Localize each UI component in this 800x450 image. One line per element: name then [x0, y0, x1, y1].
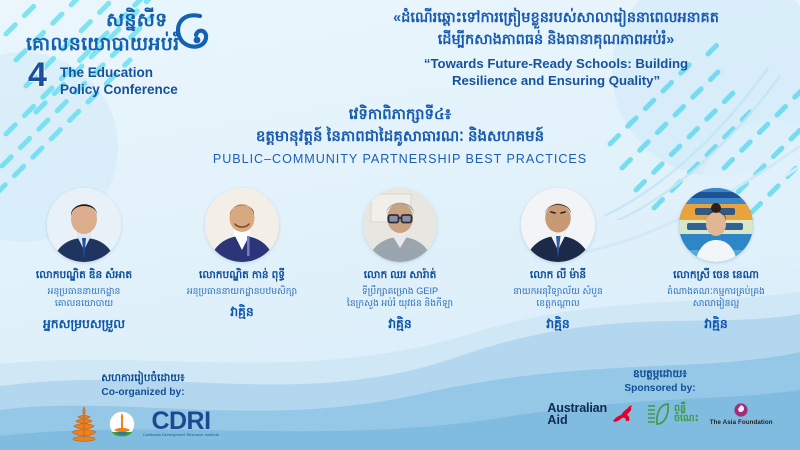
sponsor-block: ឧបត្ថម្ភដោយ៖ Sponsored by: Australian Ai…: [540, 368, 780, 427]
main-title-english: “Towards Future-Ready Schools: Building …: [330, 55, 782, 90]
speaker-tag: អ្នកសម្របសម្រួល: [8, 317, 160, 335]
speaker-role-line2: ខេត្តកណ្តាល: [482, 297, 634, 309]
speaker-role-line2: សាលារៀនល្អ: [640, 297, 792, 309]
khmer-numeral-swirl-icon: [170, 10, 210, 60]
logo-english-name: The Education Policy Conference: [60, 64, 178, 99]
speaker-photo-1: [47, 188, 121, 262]
logo-khmer-line2: គោលនយោបាយអប់រំ: [26, 32, 179, 60]
speaker-name: លោកស្រី ចេន នេណា: [640, 269, 792, 283]
speaker-tag: វាគ្មិន: [640, 317, 792, 335]
session-title: វេទិកាពិភាក្សាទី៤៖ ឧត្តមានុវត្តន៍ នៃភាពជ…: [0, 104, 800, 166]
the-asia-foundation-logo: The Asia Foundation: [710, 403, 773, 426]
ponleu-chomneh-line2: ចំណេះ: [674, 414, 699, 424]
speaker-name: លោកបណ្ឌិត ឌិន សំអាត: [8, 269, 160, 283]
speaker-tag: វាគ្មិន: [482, 317, 634, 335]
coorganized-english-label: Co-organized by:: [28, 387, 258, 398]
sponsored-khmer-label: ឧបត្ថម្ភដោយ៖: [540, 368, 780, 382]
moeys-emblem: [67, 406, 101, 442]
footer: សហការរៀបចំដោយ៖ Co-organized by:: [0, 354, 800, 450]
conference-logo: សន្និសីទ គោលនយោបាយអប់រំ 4 The Education …: [20, 6, 230, 102]
australian-aid-line2: Aid: [547, 414, 607, 427]
logo-english-line1: The Education: [60, 64, 178, 81]
asia-foundation-label: The Asia Foundation: [710, 419, 773, 426]
speaker-photo-3: [363, 188, 437, 262]
speaker-tag: វាគ្មិន: [324, 317, 476, 335]
speaker-name: លោក លី ម៉ានី: [482, 269, 634, 283]
speaker-card[interactable]: លោកស្រី ចេន នេណា តំណាងគណៈកម្មការគ្រប់គ្រ…: [640, 188, 792, 335]
speaker-photo-4: [521, 188, 595, 262]
coorganized-khmer-label: សហការរៀបចំដោយ៖: [28, 372, 258, 386]
speaker-role-line2: នៃក្រសួង អប់រំ យុវជន និងកីឡា: [324, 297, 476, 309]
speaker-card[interactable]: លោកបណ្ឌិត ឌិន សំអាត អនុប្រធាននាយកដ្ឋាន គ…: [8, 188, 160, 335]
australian-aid-logo: Australian Aid: [547, 402, 634, 428]
coorganizer-block: សហការរៀបចំដោយ៖ Co-organized by:: [28, 372, 258, 442]
main-title: «ដំណើរឆ្ពោះទៅការត្រៀមខ្លួនរបស់សាលារៀននាព…: [330, 8, 782, 90]
session-english: PUBLIC–COMMUNITY PARTNERSHIP BEST PRACTI…: [0, 152, 800, 166]
conference-slide: សន្និសីទ គោលនយោបាយអប់រំ 4 The Education …: [0, 0, 800, 450]
ponleu-chomneh-logo: ពន្លឺ ចំណេះ: [645, 402, 699, 426]
speaker-role-line1: តំណាងគណៈកម្មការគ្រប់គ្រង: [640, 285, 792, 297]
speaker-card[interactable]: លោកបណ្ឌិត កាន់ ពុទ្ធី អនុប្រធាននាយកដ្ឋាន…: [166, 188, 318, 323]
cdri-label: CDRI: [143, 410, 219, 433]
main-title-khmer-line1: «ដំណើរឆ្ពោះទៅការត្រៀមខ្លួនរបស់សាលារៀននាព…: [330, 8, 782, 30]
logo-english-line2: Policy Conference: [60, 81, 178, 98]
session-khmer-line2: ឧត្តមានុវត្តន៍ នៃភាពជាដៃគូសាធារណៈ និងសហគ…: [0, 126, 800, 148]
speaker-card[interactable]: លោក លី ម៉ានី នាយកអនុវិទ្យាល័យ សំបួន ខេត្…: [482, 188, 634, 335]
main-title-khmer-line2: ដើម្បីកសាងភាពធន់ និងធានាគុណភាពអប់រំ»: [330, 30, 782, 52]
main-title-english-line1: “Towards Future-Ready Schools: Building: [330, 55, 782, 73]
cdri-sublabel: Cambodia Development Resource Institute: [143, 433, 219, 437]
speaker-card[interactable]: លោក ឈរ សារ៉ាត់ ទីប្រឹក្សាគម្រោង GEIP នៃក…: [324, 188, 476, 335]
speaker-photo-2: [205, 188, 279, 262]
speaker-role-line1: នាយកអនុវិទ្យាល័យ សំបួន: [482, 285, 634, 297]
speaker-name: លោកបណ្ឌិត កាន់ ពុទ្ធី: [166, 269, 318, 283]
speaker-list: លោកបណ្ឌិត ឌិន សំអាត អនុប្រធាននាយកដ្ឋាន គ…: [8, 188, 792, 335]
book-leaf-icon: [645, 402, 671, 426]
coorganizer-logos: CDRI Cambodia Development Resource Insti…: [28, 406, 258, 442]
speaker-photo-5: [679, 188, 753, 262]
sponsor-logos: Australian Aid: [540, 402, 780, 428]
speaker-role-line2: គោលនយោបាយ: [8, 297, 160, 309]
logo-edition-number: 4: [28, 58, 47, 92]
speaker-role-line1: អនុប្រធាននាយកដ្ឋាន: [8, 285, 160, 297]
cdri-emblem-icon: [109, 410, 135, 438]
speaker-name: លោក ឈរ សារ៉ាត់: [324, 269, 476, 283]
cdri-wordmark: CDRI Cambodia Development Resource Insti…: [143, 410, 219, 437]
session-khmer-line1: វេទិកាពិភាក្សាទី៤៖: [0, 104, 800, 126]
main-title-english-line2: Resilience and Ensuring Quality”: [330, 72, 782, 90]
speaker-role-line1: អនុប្រធាននាយកដ្ឋានបឋមសិក្សា: [166, 285, 318, 297]
kangaroo-icon: [610, 404, 634, 424]
speaker-tag: វាគ្មិន: [166, 305, 318, 323]
speaker-role-line1: ទីប្រឹក្សាគម្រោង GEIP: [324, 285, 476, 297]
sponsored-english-label: Sponsored by:: [540, 383, 780, 394]
asia-foundation-mark-icon: [734, 403, 748, 417]
